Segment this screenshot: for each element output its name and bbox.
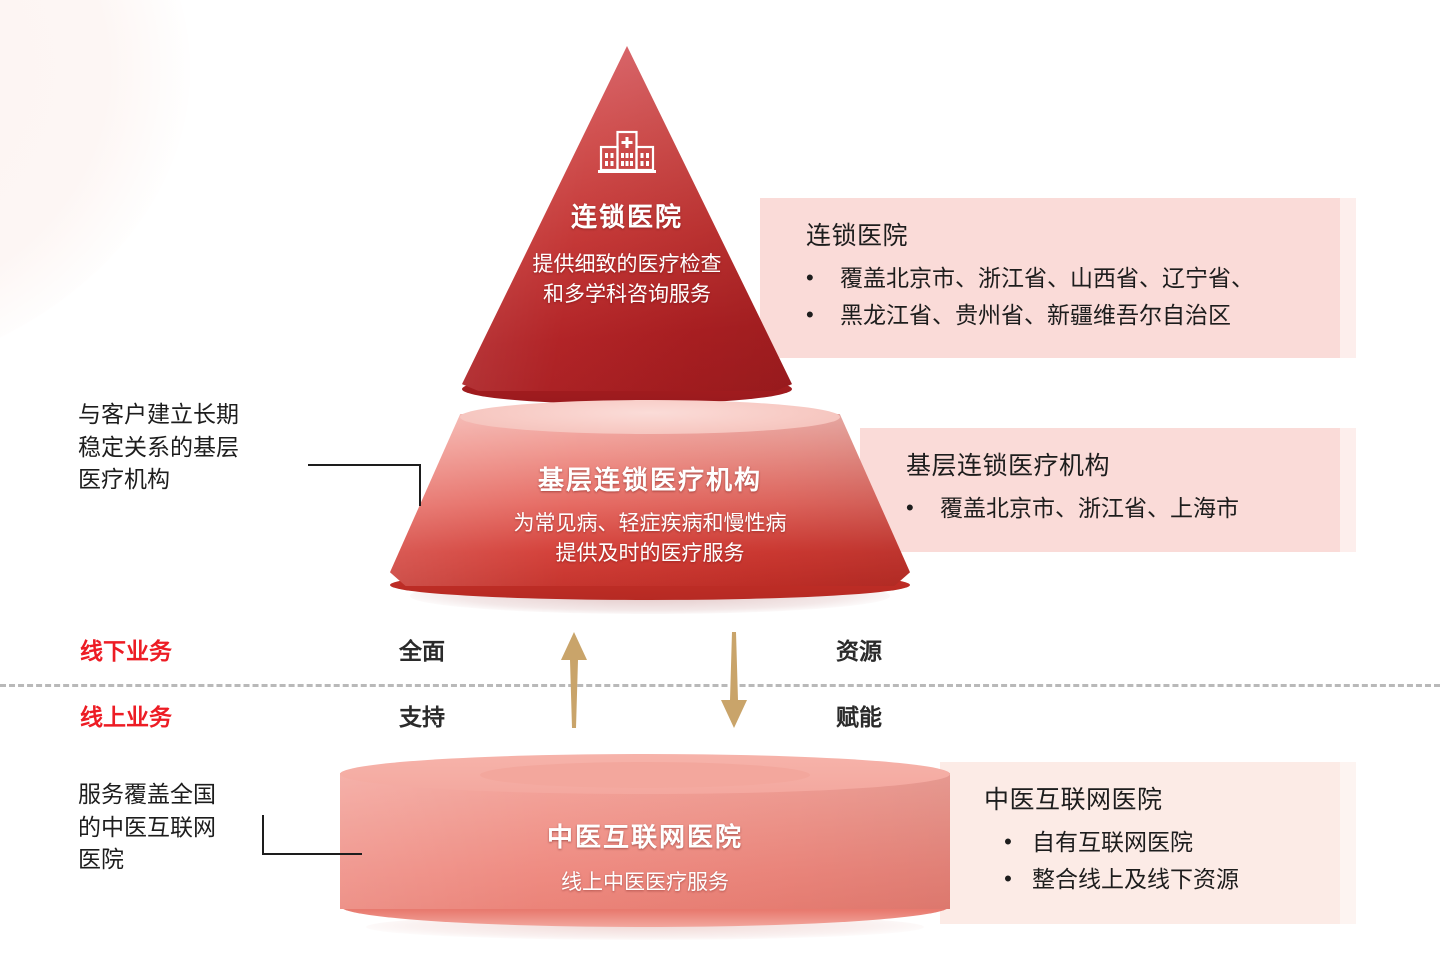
panel-tcm-edge xyxy=(1340,762,1356,924)
level-grassroots-clinic[interactable]: 基层连锁医疗机构 为常见病、轻症疾病和慢性病 提供及时的医疗服务 xyxy=(390,400,910,600)
level-tcm-internet-hospital[interactable]: 中医互联网医院 线上中医医疗服务 xyxy=(340,754,950,932)
label-online-business: 线上业务 xyxy=(80,698,172,732)
arrow-up-icon xyxy=(556,630,592,735)
level-chain-hospital[interactable]: 连锁医院 提供细致的医疗检查 和多学科咨询服务 xyxy=(462,46,792,391)
panel-grassroots-edge xyxy=(1340,428,1356,552)
callout-grassroots-line: 与客户建立长期 xyxy=(78,398,239,431)
callout-grassroots: 与客户建立长期 稳定关系的基层 医疗机构 xyxy=(78,398,239,496)
bullet-icon: • xyxy=(984,824,1032,860)
bullet-icon: • xyxy=(806,297,840,333)
hospital-icon xyxy=(597,128,657,183)
level-grassroots-subtitle-line: 提供及时的医疗服务 xyxy=(514,539,787,569)
word-resource: 资源 xyxy=(836,632,882,666)
panel-tcm: 中医互联网医院 • 自有互联网医院 • 整合线上及线下资源 xyxy=(940,762,1340,924)
list-item: • 黑龙江省、贵州省、新疆维吾尔自治区 xyxy=(806,297,1314,334)
level-grassroots-subtitle-line: 为常见病、轻症疾病和慢性病 xyxy=(514,509,787,539)
level-chain-hospital-subtitle-line: 提供细致的医疗检查 xyxy=(533,250,722,280)
list-item-text: 自有互联网医院 xyxy=(1032,824,1193,861)
list-item: • 覆盖北京市、浙江省、山西省、辽宁省、 xyxy=(806,260,1314,297)
level-chain-hospital-title: 连锁医院 xyxy=(571,197,683,234)
list-item-text: 整合线上及线下资源 xyxy=(1032,861,1239,898)
word-empower: 赋能 xyxy=(836,698,882,732)
panel-grassroots-title: 基层连锁医疗机构 xyxy=(906,446,1314,482)
panel-chain-hospital-edge xyxy=(1340,198,1356,358)
callout-tcm-line: 医院 xyxy=(78,843,216,876)
panel-chain-hospital-title: 连锁医院 xyxy=(806,216,1314,252)
word-comprehensive: 全面 xyxy=(399,632,445,666)
list-item-text: 覆盖北京市、浙江省、山西省、辽宁省、 xyxy=(840,260,1254,297)
bullet-icon: • xyxy=(806,260,840,296)
panel-grassroots: 基层连锁医疗机构 • 覆盖北京市、浙江省、上海市 xyxy=(860,428,1340,552)
callout-grassroots-line: 稳定关系的基层 xyxy=(78,431,239,464)
list-item: • 覆盖北京市、浙江省、上海市 xyxy=(906,490,1314,527)
level-tcm-title: 中医互联网医院 xyxy=(547,817,743,854)
list-item: • 自有互联网医院 xyxy=(984,824,1314,861)
level-tcm-subtitle-line: 线上中医医疗服务 xyxy=(561,868,729,898)
word-support: 支持 xyxy=(399,698,445,732)
list-item-text: 覆盖北京市、浙江省、上海市 xyxy=(940,490,1239,527)
bullet-icon: • xyxy=(906,490,940,526)
level-chain-hospital-subtitle-line: 和多学科咨询服务 xyxy=(533,280,722,310)
diagram-canvas: 连锁医院 • 覆盖北京市、浙江省、山西省、辽宁省、 • 黑龙江省、贵州省、新疆维… xyxy=(0,0,1440,963)
corner-decoration xyxy=(0,0,190,390)
callout-tcm-line: 服务覆盖全国 xyxy=(78,778,216,811)
list-item-text: 黑龙江省、贵州省、新疆维吾尔自治区 xyxy=(840,297,1231,334)
list-item: • 整合线上及线下资源 xyxy=(984,861,1314,898)
panel-tcm-title: 中医互联网医院 xyxy=(984,780,1314,816)
callout-grassroots-line: 医疗机构 xyxy=(78,463,239,496)
label-offline-business: 线下业务 xyxy=(80,632,172,666)
callout-tcm: 服务覆盖全国 的中医互联网 医院 xyxy=(78,778,216,876)
arrow-down-icon xyxy=(716,630,752,735)
level-grassroots-title: 基层连锁医疗机构 xyxy=(538,460,762,497)
callout-tcm-line: 的中医互联网 xyxy=(78,811,216,844)
panel-chain-hospital: 连锁医院 • 覆盖北京市、浙江省、山西省、辽宁省、 • 黑龙江省、贵州省、新疆维… xyxy=(760,198,1340,358)
bullet-icon: • xyxy=(984,861,1032,897)
